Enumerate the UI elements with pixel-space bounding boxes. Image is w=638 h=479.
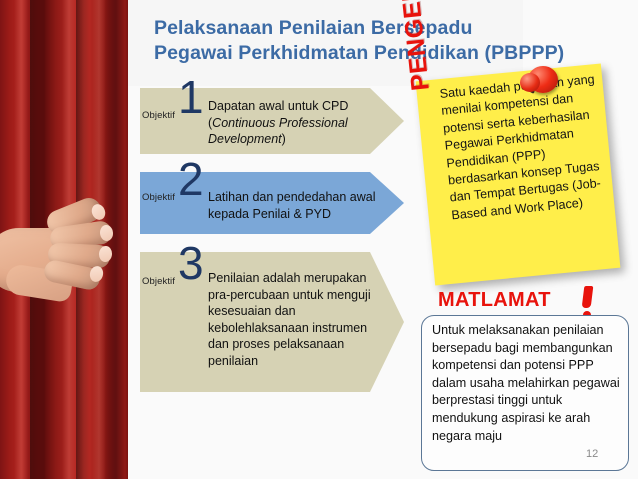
objective-3-label: Objektif <box>142 276 175 287</box>
objective-2-label: Objektif <box>142 192 175 203</box>
objective-2-text: Latihan dan pendedahan awal kepada Penil… <box>208 189 388 222</box>
pushpin-knob <box>520 73 540 92</box>
fingernail <box>99 224 114 241</box>
objective-3-number: 3 <box>178 240 204 286</box>
page-title: Pelaksanaan Penilaian Bersepadu Pegawai … <box>154 16 574 66</box>
objective-3-text: Penilaian adalah merupakan pra-percubaan… <box>208 270 380 369</box>
matlamat-body-text: Untuk melaksanakan penilaian bersepadu b… <box>432 322 622 445</box>
pushpin-icon <box>520 64 564 104</box>
objective-1-text: Dapatan awal untuk CPD (Continuous Profe… <box>208 98 383 148</box>
exclamation-bar <box>582 286 594 308</box>
page-number: 12 <box>586 448 598 460</box>
objective-1-number: 1 <box>178 74 204 120</box>
objective-1-label: Objektif <box>142 110 175 121</box>
objective-1-text-italic: Continuous Professional Development <box>208 116 348 147</box>
hand-grabbing-curtain <box>0 198 116 308</box>
pengenalan-sticky-note: Satu kaedah penilaian yang menilai kompe… <box>425 72 625 284</box>
slide-canvas: Pelaksanaan Penilaian Bersepadu Pegawai … <box>0 0 638 479</box>
objective-3: Objektif 3 Penilaian adalah merupakan pr… <box>140 252 415 392</box>
fingernail <box>98 245 112 262</box>
objective-1: Objektif 1 Dapatan awal untuk CPD (Conti… <box>140 88 415 154</box>
objective-2-number: 2 <box>178 156 204 202</box>
objective-1-text-after: ) <box>282 132 286 146</box>
objective-2: Objektif 2 Latihan dan pendedahan awal k… <box>140 172 415 234</box>
title-line-2: Pegawai Perkhidmatan Pendidikan (PBPPP) <box>154 41 574 66</box>
matlamat-heading: MATLAMAT <box>438 289 551 312</box>
title-line-1: Pelaksanaan Penilaian Bersepadu <box>154 16 574 41</box>
